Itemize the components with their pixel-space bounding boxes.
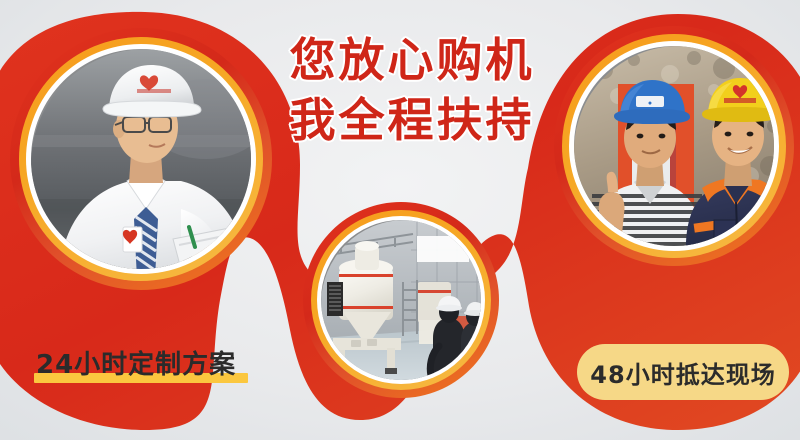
label-left-text: 24小时定制方案	[36, 350, 236, 380]
photo-circle-center	[303, 202, 499, 398]
label-right-text: 48小时抵达现场	[590, 355, 775, 390]
promo-banner: ●	[0, 0, 800, 440]
ring-orange-left	[19, 37, 263, 281]
headline-block: 您放心购机 我全程扶持	[282, 36, 542, 145]
ring-white-left	[26, 44, 256, 274]
photo-circle-left	[10, 28, 272, 290]
ring-orange-center	[311, 210, 491, 390]
photo-circle-right: ●	[554, 26, 794, 266]
photo-factory-machinery-inspection	[321, 220, 481, 380]
label-48h-onsite: 48小时抵达现场	[577, 344, 789, 400]
svg-text:●: ●	[648, 100, 652, 107]
ring-white-center	[317, 216, 485, 384]
photo-two-workers-thumbs-up: ●	[574, 46, 774, 246]
headline-line-1: 您放心购机	[282, 36, 542, 86]
ring-orange-right: ●	[562, 34, 786, 258]
headline-line-2: 我全程扶持	[282, 96, 542, 146]
photo-engineer-with-clipboard	[31, 49, 251, 269]
label-24h-customization: 24小时定制方案	[36, 344, 236, 381]
ring-white-right: ●	[569, 41, 779, 251]
